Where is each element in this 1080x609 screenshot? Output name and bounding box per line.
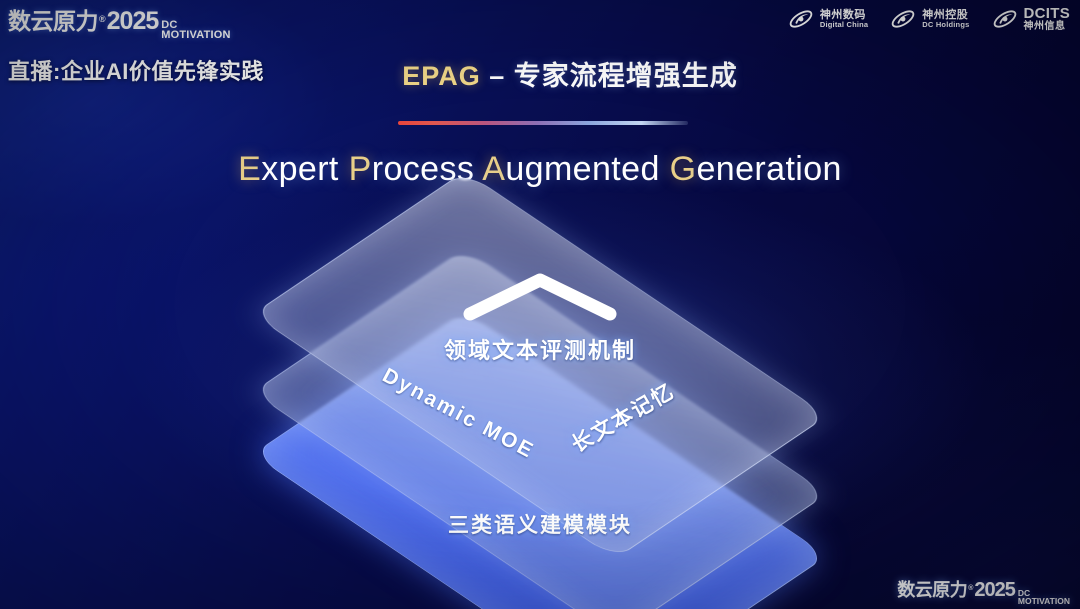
word-expert: Expert — [238, 150, 339, 188]
partner-label: DCITS 神州信息 — [1024, 6, 1071, 33]
diagram-label-long-text-memory: 长文本记忆 — [565, 375, 680, 458]
diagram-label-bottom: 三类语义建模模块 — [448, 509, 632, 539]
swirl-logo-icon — [890, 6, 916, 32]
title-dash: – — [481, 61, 514, 91]
partner-logo-group: 神州数码 Digital China 神州控股 DC Holdings — [788, 6, 1070, 33]
title-english-expansion: Expert Process Augmented Generation — [0, 150, 1080, 189]
watermark-year: 2025 — [974, 579, 1015, 602]
word-process: Process — [349, 150, 475, 188]
partner-logo-dcits: DCITS 神州信息 — [992, 6, 1071, 33]
word-initial: A — [482, 150, 505, 188]
diagram-layer-top — [252, 171, 828, 559]
partner-name-en: DCITS — [1024, 6, 1071, 22]
gradient-divider — [398, 121, 688, 125]
partner-logo-dc-holdings: 神州控股 DC Holdings — [890, 6, 969, 32]
partner-name-cn: 神州信息 — [1024, 22, 1071, 33]
title-chinese: 专家流程增强生成 — [514, 61, 738, 91]
brand-dc-line2: MOTIVATION — [161, 30, 230, 40]
word-rest: eneration — [696, 150, 841, 188]
word-rest: rocess — [372, 150, 475, 188]
chevron-up-icon — [460, 268, 620, 324]
layer-plate — [252, 249, 828, 609]
partner-logo-digital-china: 神州数码 Digital China — [788, 6, 868, 32]
slide-title: EPAG – 专家流程增强生成 — [0, 54, 1080, 93]
brand-dc-motivation: DC MOTIVATION — [161, 20, 230, 41]
layer-plate — [252, 311, 828, 609]
word-initial: P — [349, 150, 372, 188]
brand-logo: 数云原力®2025 DC MOTIVATION — [8, 2, 308, 42]
title-acronym: EPAG — [402, 61, 481, 91]
word-initial: G — [670, 150, 697, 188]
partner-label: 神州控股 DC Holdings — [922, 10, 969, 30]
brand-name-cn: 数云原力 — [8, 2, 98, 36]
word-generation: Generation — [670, 150, 842, 188]
diagram-label-dynamic-moe: Dynamic MOE — [378, 364, 538, 464]
watermark-dc-motivation: DC MOTIVATION — [1018, 589, 1070, 605]
layer-plate — [252, 171, 828, 559]
brand-year: 2025 — [107, 7, 159, 36]
word-rest: ugmented — [505, 150, 659, 188]
word-initial: E — [238, 150, 261, 188]
diagram-layer-middle — [252, 249, 828, 609]
diagram-label-top: 领域文本评测机制 — [444, 333, 636, 365]
word-rest: xpert — [261, 150, 339, 188]
watermark-registered-mark: ® — [968, 585, 973, 592]
partner-label: 神州数码 Digital China — [820, 10, 868, 30]
diagram-layer-bottom — [252, 311, 828, 609]
watermark-dc-line2: MOTIVATION — [1018, 597, 1070, 605]
brand-registered-mark: ® — [99, 14, 106, 24]
footer-watermark: 数云原力®2025 DC MOTIVATION — [897, 576, 1070, 605]
swirl-logo-icon — [992, 6, 1018, 32]
slide-stage: 数云原力®2025 DC MOTIVATION 直播:企业AI价值先锋实践 神州… — [0, 0, 1080, 609]
word-augmented: Augmented — [482, 150, 660, 188]
watermark-name-cn: 数云原力 — [897, 576, 967, 602]
partner-name-en: DC Holdings — [922, 21, 969, 29]
swirl-logo-icon — [788, 6, 814, 32]
partner-name-en: Digital China — [820, 21, 868, 29]
